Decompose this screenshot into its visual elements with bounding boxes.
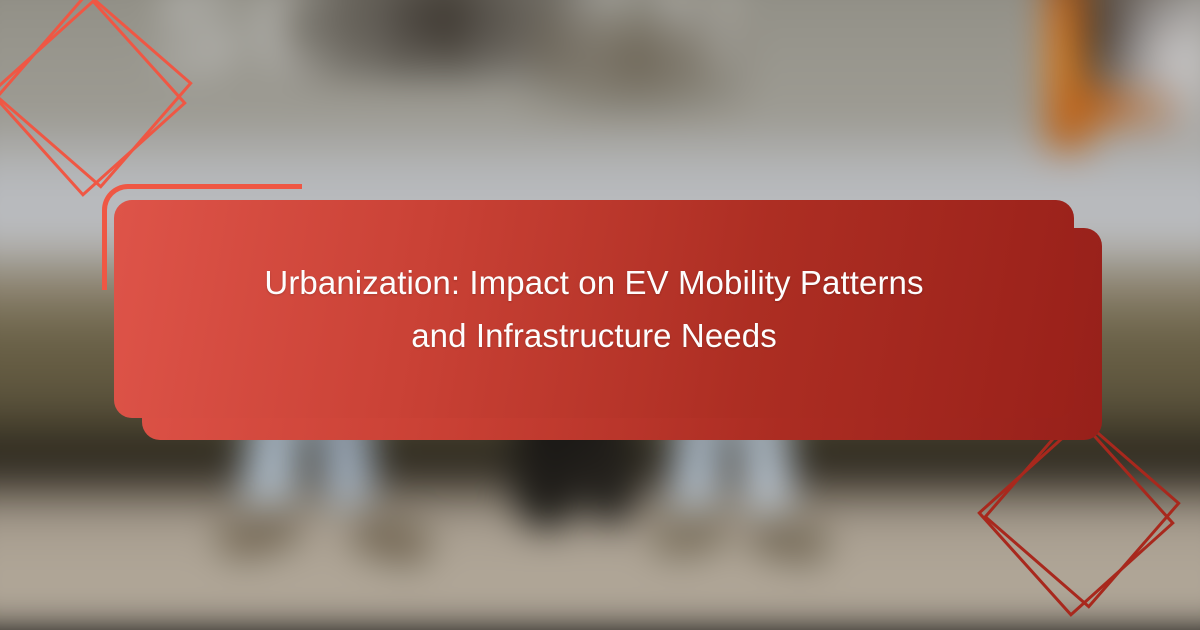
page-title-line-1: Urbanization: Impact on EV Mobility Patt… [264,256,923,309]
decorative-squares-bottom-right [988,418,1200,630]
decorative-square-outline [0,0,187,197]
title-card-banner: SCREEN Urbanization: Impact on EV Mobili… [0,0,1200,630]
page-title: Urbanization: Impact on EV Mobility Patt… [114,200,1074,418]
background-highlight-right [1110,0,1200,140]
page-title-line-2: and Infrastructure Needs [411,309,777,362]
background-shadow-mid [520,0,750,120]
decorative-square-outline [977,419,1175,617]
decorative-squares-top-left [2,2,202,202]
